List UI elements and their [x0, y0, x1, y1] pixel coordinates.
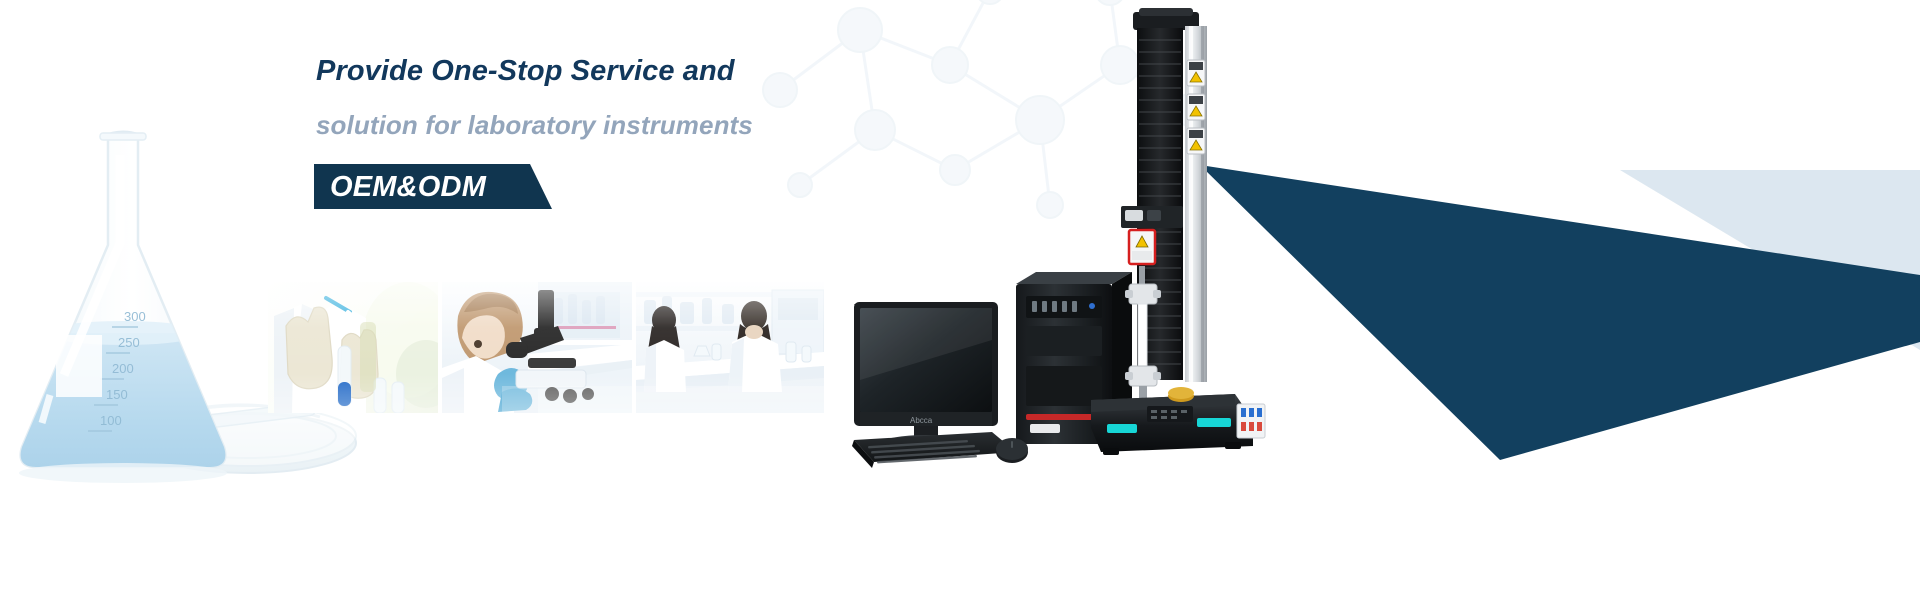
promo-banner: 300 250 200 150 100 Provide One-Stop Ser…	[0, 0, 1920, 597]
svg-text:Abcca: Abcca	[910, 416, 933, 425]
graduation-label: 200	[112, 361, 134, 376]
graduation-label: 300	[124, 309, 146, 324]
lcd-monitor: Abcca	[854, 302, 998, 454]
photo-pipetting-test-tube	[268, 282, 438, 413]
cyan-accent	[1107, 424, 1137, 433]
graduation-label: 250	[118, 335, 140, 350]
graduation-label: 100	[100, 413, 122, 428]
photo-microscope-researcher	[442, 282, 632, 413]
computer-mouse	[996, 438, 1028, 463]
crosshead	[1121, 206, 1183, 228]
warning-label-icon	[1187, 94, 1205, 120]
graduation-label: 150	[106, 387, 128, 402]
universal-testing-machine	[1085, 8, 1295, 458]
lower-grip	[1125, 366, 1161, 400]
photo-lab-bench-team	[636, 282, 824, 413]
computer-keyboard	[852, 432, 1016, 468]
load-cell	[1129, 230, 1155, 264]
arrow-light-triangle	[1620, 170, 1920, 350]
badge-label: OEM&ODM	[330, 171, 486, 204]
lab-photo-strip	[268, 282, 824, 413]
warning-label-icon	[1187, 60, 1205, 86]
cyan-accent	[1197, 418, 1231, 427]
warning-label-icon	[1187, 128, 1205, 154]
machine-base	[1091, 387, 1265, 455]
oem-odm-badge: OEM&ODM	[314, 164, 552, 209]
